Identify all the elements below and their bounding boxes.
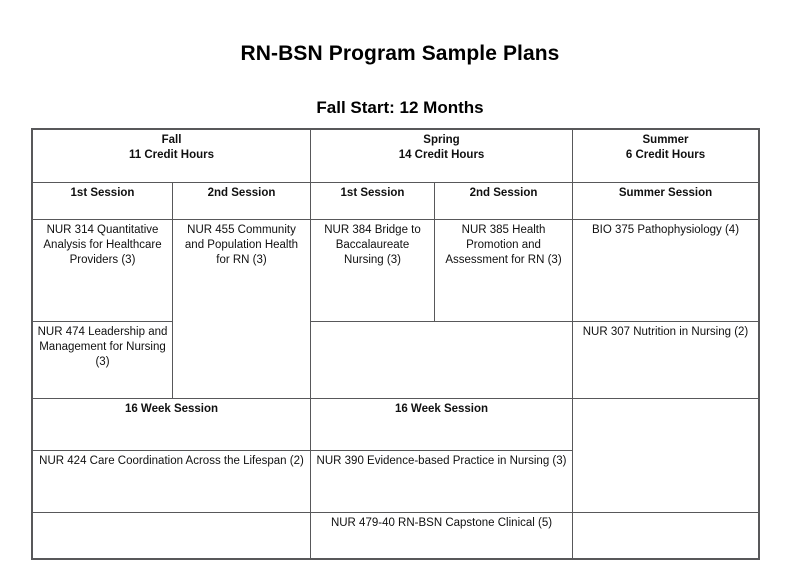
season-credits-summer: 6 Credit Hours xyxy=(577,148,754,163)
course-cell-spring-merged-empty xyxy=(311,322,573,399)
course-cell-summer-a: BIO 375 Pathophysiology (4) xyxy=(573,220,759,322)
session-header-summer: Summer Session xyxy=(573,183,759,220)
document-page: RN-BSN Program Sample Plans Fall Start: … xyxy=(0,0,800,562)
course-cell-fall-1st-a: NUR 314 Quantitative Analysis for Health… xyxy=(33,220,173,322)
course-cell-summer-empty xyxy=(573,513,759,559)
course-cell-fall-1st-b: NUR 474 Leadership and Management for Nu… xyxy=(33,322,173,399)
session-header-spring-1st: 1st Session xyxy=(311,183,435,220)
plan-table-container: Fall 11 Credit Hours Spring 14 Credit Ho… xyxy=(32,129,758,559)
week-session-header-spring: 16 Week Session xyxy=(311,399,573,451)
table-row-courses-4: NUR 479-40 RN-BSN Capstone Clinical (5) xyxy=(33,513,759,559)
page-title: RN-BSN Program Sample Plans xyxy=(0,42,800,65)
week-session-header-fall: 16 Week Session xyxy=(33,399,311,451)
session-header-spring-2nd: 2nd Session xyxy=(435,183,573,220)
season-header-spring: Spring 14 Credit Hours xyxy=(311,130,573,183)
season-credits-fall: 11 Credit Hours xyxy=(37,148,306,163)
course-cell-fall-empty xyxy=(33,513,311,559)
season-name-summer: Summer xyxy=(577,133,754,148)
course-cell-fall-16week: NUR 424 Care Coordination Across the Lif… xyxy=(33,451,311,513)
table-row-courses-2: NUR 474 Leadership and Management for Nu… xyxy=(33,322,759,399)
session-header-fall-1st: 1st Session xyxy=(33,183,173,220)
course-cell-spring-1st-a: NUR 384 Bridge to Baccalaureate Nursing … xyxy=(311,220,435,322)
season-name-spring: Spring xyxy=(315,133,568,148)
season-header-summer: Summer 6 Credit Hours xyxy=(573,130,759,183)
table-row-courses-1: NUR 314 Quantitative Analysis for Health… xyxy=(33,220,759,322)
table-row-session-headers: 1st Session 2nd Session 1st Session 2nd … xyxy=(33,183,759,220)
table-row-season-headers: Fall 11 Credit Hours Spring 14 Credit Ho… xyxy=(33,130,759,183)
page-subtitle: Fall Start: 12 Months xyxy=(0,99,800,118)
program-plan-table: Fall 11 Credit Hours Spring 14 Credit Ho… xyxy=(32,129,759,559)
summer-empty-cell-merged xyxy=(573,399,759,513)
season-credits-spring: 14 Credit Hours xyxy=(315,148,568,163)
course-cell-fall-2nd-a: NUR 455 Community and Population Health … xyxy=(173,220,311,399)
season-name-fall: Fall xyxy=(37,133,306,148)
course-cell-spring-16week-b: NUR 479-40 RN-BSN Capstone Clinical (5) xyxy=(311,513,573,559)
season-header-fall: Fall 11 Credit Hours xyxy=(33,130,311,183)
course-cell-summer-b: NUR 307 Nutrition in Nursing (2) xyxy=(573,322,759,399)
course-cell-spring-2nd-a: NUR 385 Health Promotion and Assessment … xyxy=(435,220,573,322)
course-cell-spring-16week-a: NUR 390 Evidence-based Practice in Nursi… xyxy=(311,451,573,513)
table-row-16-week-session: 16 Week Session 16 Week Session xyxy=(33,399,759,451)
session-header-fall-2nd: 2nd Session xyxy=(173,183,311,220)
